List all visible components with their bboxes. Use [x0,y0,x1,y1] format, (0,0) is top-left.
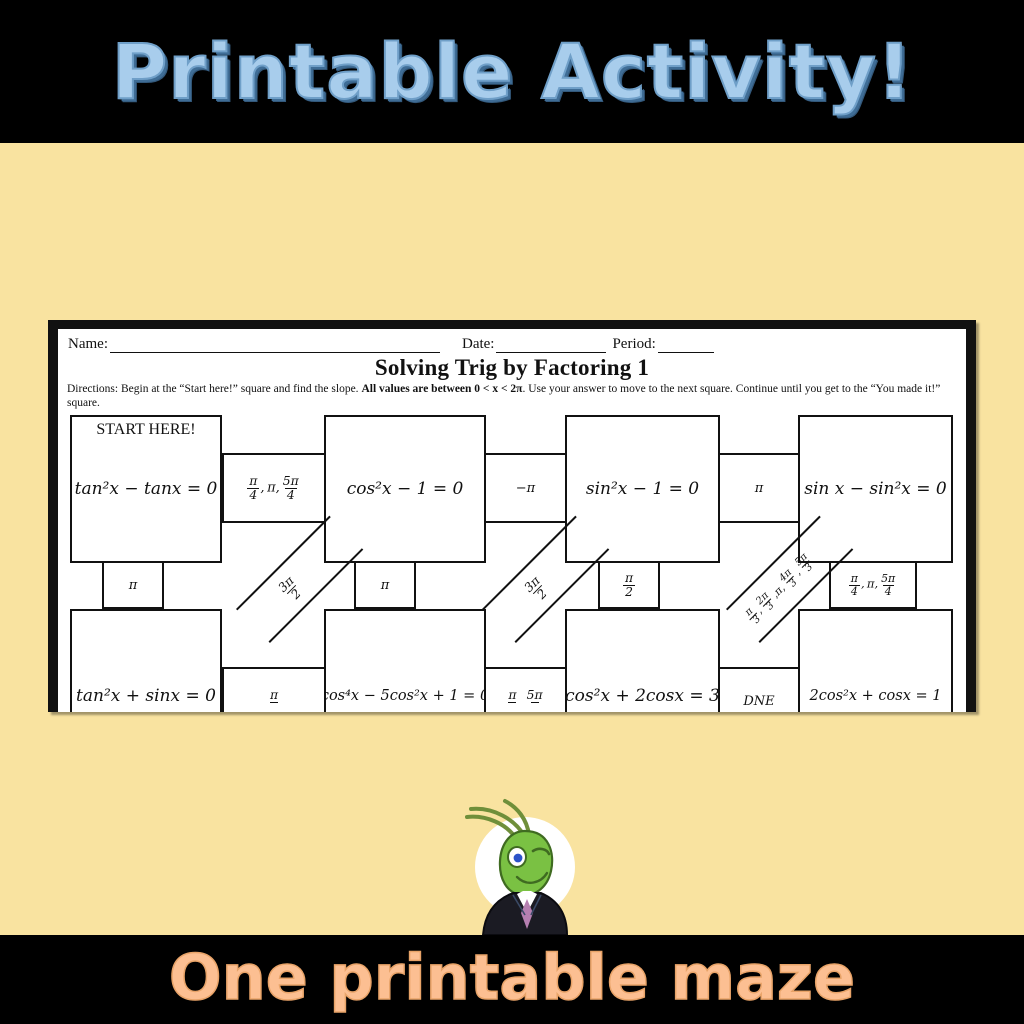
maze-cell-r1c2[interactable]: cos²x − 1 = 0 [324,415,486,563]
grasshopper-mascot-icon [455,795,595,940]
answer-text: π [755,481,764,496]
date-label: Date: [462,336,494,353]
start-here-label: START HERE! [72,421,220,439]
worksheet-title: Solving Trig by Factoring 1 [58,355,966,381]
directions-part-1: Directions: Begin at the “Start here!” s… [67,383,361,395]
maze-answer-r2-23[interactable]: π 5π [484,667,567,712]
answer-text: π [267,689,281,712]
maze-answer-vert-c1[interactable]: π [102,561,164,609]
bottom-banner-caption: One printable maze [169,941,855,1014]
name-blank-line[interactable] [110,338,440,353]
maze-cell-equation: cos²x − 1 = 0 [347,479,464,499]
maze-cell-equation: 2cos²x + cosx = 1 [810,688,942,704]
answer-text: DNE [743,694,774,709]
answer-text: π4, π,5π4 [246,475,302,501]
worksheet-directions: Directions: Begin at the “Start here!” s… [58,382,966,410]
maze-cell-equation: tan²x + sinx = 0 [76,686,216,706]
maze-cell-equation: sin x − sin²x = 0 [804,479,947,499]
maze-answer-vert-c3[interactable]: π2 [598,561,660,609]
maze-cell-r2c1[interactable]: tan²x + sinx = 0 [70,609,222,712]
name-label: Name: [68,336,108,353]
maze-cell-equation: cos⁴x − 5cos²x + 1 = 0 [321,688,489,704]
maze-answer-r2-12[interactable]: π [222,667,326,712]
maze-answer-r2-34[interactable]: DNE [718,667,800,712]
maze-cell-equation: tan²x − tanx = 0 [75,479,218,499]
top-banner-title: Printable Activity! [112,27,913,116]
period-label: Period: [612,336,655,353]
maze-answer-vert-c4[interactable]: π4, π,5π4 [829,561,917,609]
maze-answer-vert-c2[interactable]: π [354,561,416,609]
worksheet-preview-frame[interactable]: Name: Date: Period: Solving Trig by Fact… [48,320,976,712]
maze-answer-r1-23[interactable]: −π [484,453,567,523]
worksheet-page: Name: Date: Period: Solving Trig by Fact… [58,329,966,712]
maze-cell-r2c2[interactable]: cos⁴x − 5cos²x + 1 = 0 [324,609,486,712]
maze-cell-r2c4[interactable]: 2cos²x + cosx = 1 [798,609,953,712]
maze-grid: START HERE! tan²x − tanx = 0 cos²x − 1 =… [58,413,966,712]
answer-text: π2 [622,572,636,598]
answer-text: −π [516,481,535,496]
maze-cell-r1c4[interactable]: sin x − sin²x = 0 [798,415,953,563]
maze-answer-r1-12[interactable]: π4, π,5π4 [222,453,326,523]
answer-text: π4, π,5π4 [848,573,898,596]
maze-answer-r1-34[interactable]: π [718,453,800,523]
answer-text: π 5π [505,689,545,712]
poster-page: Printable Activity! Name: Date: Period: … [0,0,1024,1024]
maze-cell-r2c3[interactable]: cos²x + 2cosx = 3 [565,609,720,712]
worksheet-header-row: Name: Date: Period: [58,329,966,353]
maze-cell-r1c3[interactable]: sin²x − 1 = 0 [565,415,720,563]
top-banner: Printable Activity! [0,0,1024,143]
period-blank-line[interactable] [658,338,714,353]
directions-bold-range: All values are between 0 < x < 2π [361,383,522,395]
answer-text: π [381,578,390,593]
maze-cell-start[interactable]: START HERE! tan²x − tanx = 0 [70,415,222,563]
date-blank-line[interactable] [496,338,606,353]
answer-text: π [129,578,138,593]
maze-cell-equation: sin²x − 1 = 0 [586,479,699,499]
bottom-banner: One printable maze [0,935,1024,1024]
maze-cell-equation: cos²x + 2cosx = 3 [565,686,720,706]
